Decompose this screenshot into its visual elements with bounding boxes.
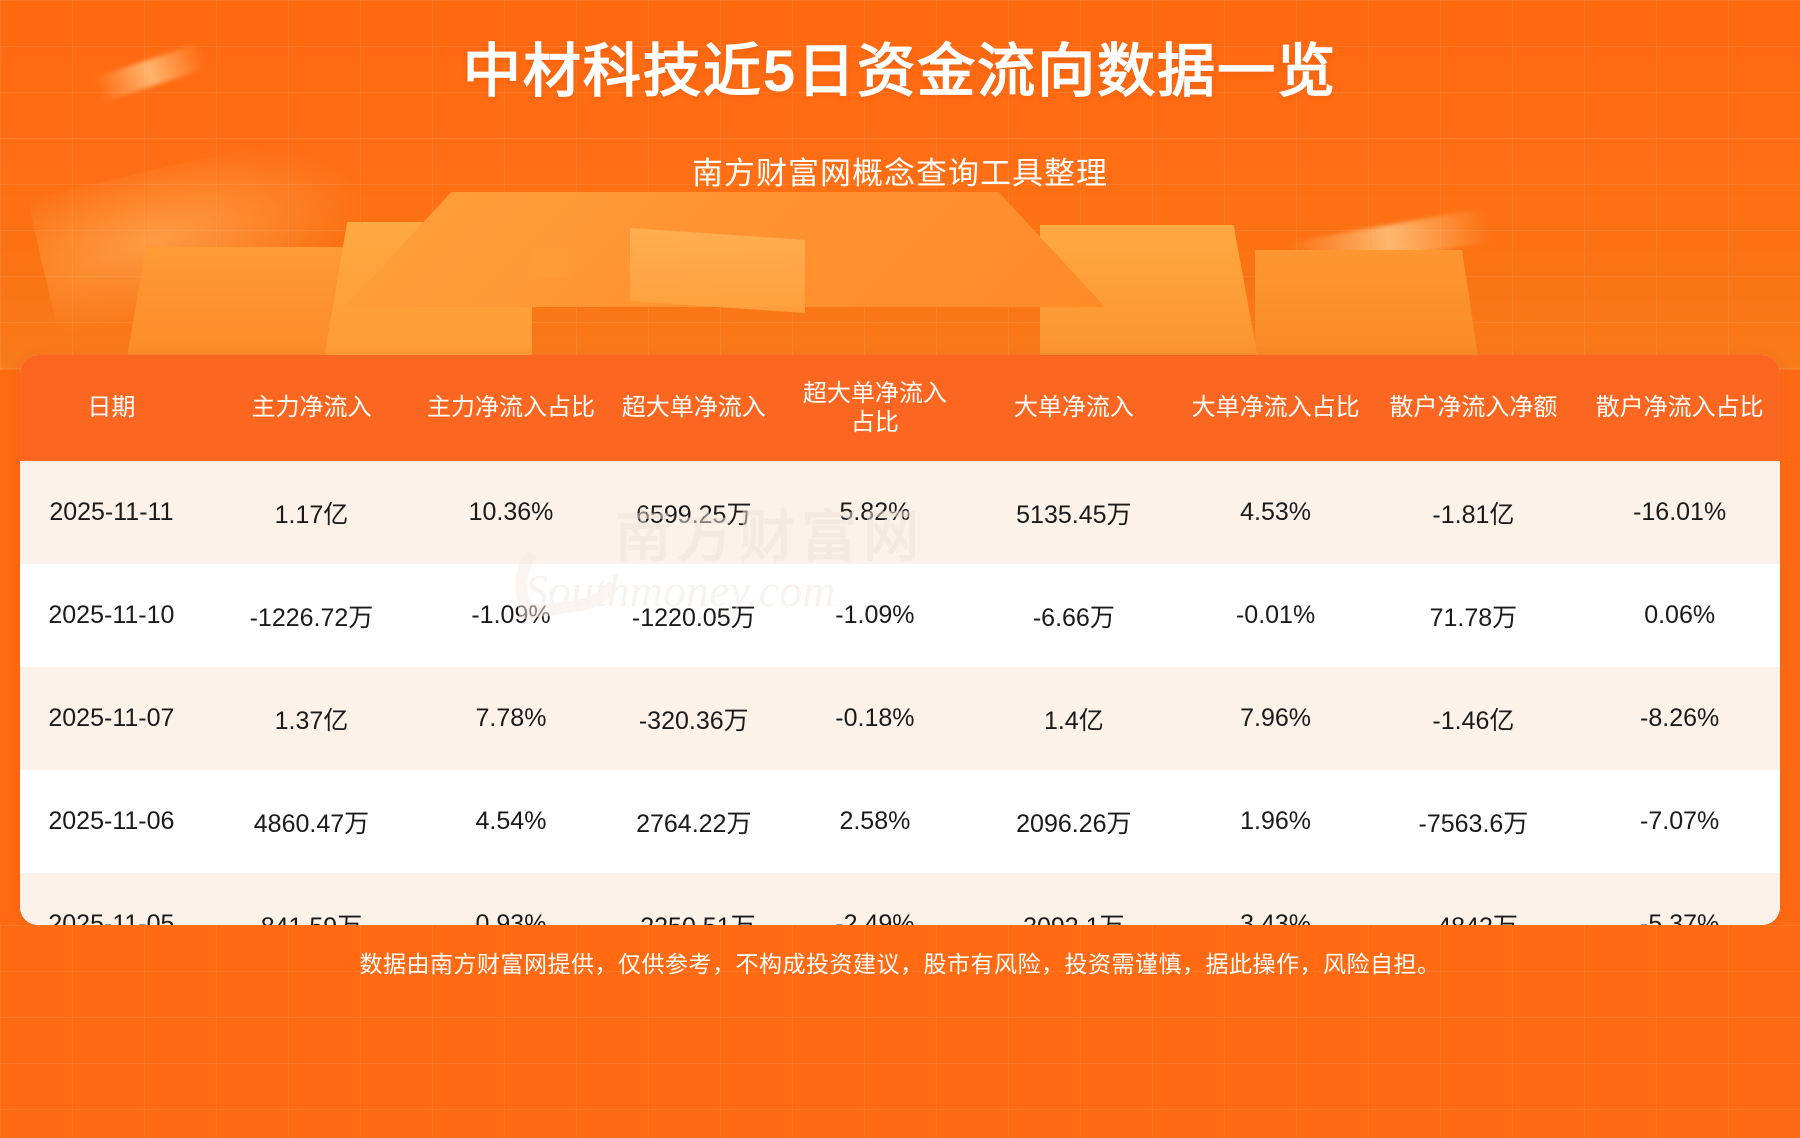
cell-large-pct: 7.96%	[1184, 667, 1368, 770]
cell-main-pct: 0.93%	[420, 873, 602, 925]
column-header-retail-net: 散户净流入净额	[1368, 355, 1580, 461]
table-row: 2025-11-06 4860.47万 4.54% 2764.22万 2.58%…	[20, 770, 1780, 873]
cell-large-net: 2096.26万	[964, 770, 1184, 873]
cell-xlarge-pct: -0.18%	[786, 667, 964, 770]
cell-retail-pct: 0.06%	[1579, 564, 1780, 667]
cell-xlarge-net: -320.36万	[602, 667, 786, 770]
disclaimer-text: 数据由南方财富网提供，仅供参考，不构成投资建议，股市有风险，投资需谨慎，据此操作…	[0, 945, 1800, 979]
podium-shape-right	[1255, 250, 1480, 370]
cell-main-net: -1226.72万	[203, 564, 420, 667]
column-header-main-pct: 主力净流入占比	[420, 355, 602, 461]
cell-date: 2025-11-05	[20, 873, 203, 925]
cell-main-pct: 4.54%	[420, 770, 602, 873]
cell-xlarge-pct: 5.82%	[786, 461, 964, 564]
table-header-row: 日期 主力净流入 主力净流入占比 超大单净流入 超大单净流入占比 大单净流入 大…	[20, 355, 1780, 461]
column-header-date: 日期	[20, 355, 203, 461]
header-banner: 中材科技近5日资金流向数据一览 南方财富网概念查询工具整理	[0, 0, 1800, 370]
column-header-large-net: 大单净流入	[964, 355, 1184, 461]
column-header-retail-pct: 散户净流入占比	[1579, 355, 1780, 461]
cell-large-pct: 3.43%	[1184, 873, 1368, 925]
cell-xlarge-pct: 2.58%	[786, 770, 964, 873]
cell-date: 2025-11-11	[20, 461, 203, 564]
cell-large-net: 1.4亿	[964, 667, 1184, 770]
column-header-xlarge-pct: 超大单净流入占比	[786, 355, 964, 461]
column-header-xlarge-net: 超大单净流入	[602, 355, 786, 461]
cell-large-pct: -0.01%	[1184, 564, 1368, 667]
cell-retail-net: -1.81亿	[1368, 461, 1580, 564]
cell-main-pct: -1.09%	[420, 564, 602, 667]
page-subtitle: 南方财富网概念查询工具整理	[0, 148, 1800, 193]
table-row: 2025-11-11 1.17亿 10.36% 6599.25万 5.82% 5…	[20, 461, 1780, 564]
page-title: 中材科技近5日资金流向数据一览	[0, 40, 1800, 104]
cell-xlarge-pct: -1.09%	[786, 564, 964, 667]
cell-large-net: 3092.1万	[964, 873, 1184, 925]
cell-main-net: 841.59万	[203, 873, 420, 925]
cell-xlarge-net: -2250.51万	[602, 873, 786, 925]
cell-retail-net: 71.78万	[1368, 564, 1580, 667]
cell-retail-pct: -7.07%	[1579, 770, 1780, 873]
footer-bar: 数据由南方财富网提供，仅供参考，不构成投资建议，股市有风险，投资需谨慎，据此操作…	[0, 925, 1800, 1138]
podium-shape-highlight	[630, 228, 805, 313]
data-table-card: 日期 主力净流入 主力净流入占比 超大单净流入 超大单净流入占比 大单净流入 大…	[20, 355, 1780, 925]
cell-main-pct: 7.78%	[420, 667, 602, 770]
cell-retail-net: -7563.6万	[1368, 770, 1580, 873]
cell-date: 2025-11-10	[20, 564, 203, 667]
podium-shape-center-step	[530, 248, 570, 278]
table-row: 2025-11-05 841.59万 0.93% -2250.51万 -2.49…	[20, 873, 1780, 925]
cell-main-net: 1.37亿	[203, 667, 420, 770]
cell-main-pct: 10.36%	[420, 461, 602, 564]
cell-retail-net: -4842万	[1368, 873, 1580, 925]
cell-large-net: 5135.45万	[964, 461, 1184, 564]
cell-main-net: 4860.47万	[203, 770, 420, 873]
cell-retail-net: -1.46亿	[1368, 667, 1580, 770]
table-row: 2025-11-07 1.37亿 7.78% -320.36万 -0.18% 1…	[20, 667, 1780, 770]
cell-large-pct: 4.53%	[1184, 461, 1368, 564]
cell-xlarge-net: -1220.05万	[602, 564, 786, 667]
cell-large-net: -6.66万	[964, 564, 1184, 667]
cell-large-pct: 1.96%	[1184, 770, 1368, 873]
cell-retail-pct: -16.01%	[1579, 461, 1780, 564]
cell-retail-pct: -5.37%	[1579, 873, 1780, 925]
cell-date: 2025-11-07	[20, 667, 203, 770]
column-header-large-pct: 大单净流入占比	[1184, 355, 1368, 461]
column-header-main-net: 主力净流入	[203, 355, 420, 461]
table-header: 日期 主力净流入 主力净流入占比 超大单净流入 超大单净流入占比 大单净流入 大…	[20, 355, 1780, 461]
cell-retail-pct: -8.26%	[1579, 667, 1780, 770]
cell-date: 2025-11-06	[20, 770, 203, 873]
table-row: 2025-11-10 -1226.72万 -1.09% -1220.05万 -1…	[20, 564, 1780, 667]
cell-xlarge-pct: -2.49%	[786, 873, 964, 925]
cell-main-net: 1.17亿	[203, 461, 420, 564]
cell-xlarge-net: 6599.25万	[602, 461, 786, 564]
table-body: 2025-11-11 1.17亿 10.36% 6599.25万 5.82% 5…	[20, 461, 1780, 925]
cell-xlarge-net: 2764.22万	[602, 770, 786, 873]
fund-flow-table: 日期 主力净流入 主力净流入占比 超大单净流入 超大单净流入占比 大单净流入 大…	[20, 355, 1780, 925]
